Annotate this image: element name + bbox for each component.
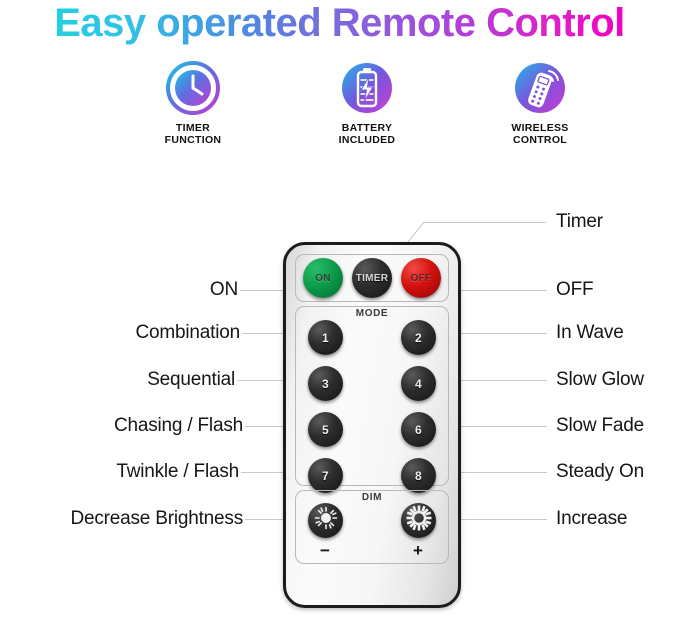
mode-button-label: 2 bbox=[415, 331, 422, 345]
mode-button-7[interactable]: 7 bbox=[308, 458, 343, 493]
mode-button-label: 6 bbox=[415, 423, 422, 437]
mode-button-label: 7 bbox=[322, 469, 329, 483]
callout-dim-minus: Decrease Brightness bbox=[9, 508, 243, 530]
callout-button-6: Slow Fade bbox=[556, 415, 644, 437]
callout-button-8: Steady On bbox=[556, 461, 644, 483]
dim-increase-sign: + bbox=[398, 541, 438, 561]
mode-button-label: 4 bbox=[415, 377, 422, 391]
callout-dim-plus: Increase bbox=[556, 508, 627, 530]
mode-button-label: 1 bbox=[322, 331, 329, 345]
callout-button-5: Chasing / Flash bbox=[43, 415, 243, 437]
mode-button-4[interactable]: 4 bbox=[401, 366, 436, 401]
mode-panel-label: MODE bbox=[286, 308, 458, 319]
mode-button-label: 8 bbox=[415, 469, 422, 483]
timer-button[interactable]: TIMER bbox=[352, 258, 392, 298]
on-button[interactable]: ON bbox=[303, 258, 343, 298]
callout-button-3: Sequential bbox=[35, 369, 235, 391]
mode-button-2[interactable]: 2 bbox=[401, 320, 436, 355]
dim-increase-button[interactable] bbox=[401, 503, 436, 538]
callout-off: OFF bbox=[556, 279, 593, 301]
off-button-label: OFF bbox=[411, 273, 432, 284]
off-button[interactable]: OFF bbox=[401, 258, 441, 298]
callout-button-1: Combination bbox=[40, 322, 240, 344]
mode-button-label: 3 bbox=[322, 377, 329, 391]
dim-panel-label: DIM bbox=[286, 492, 458, 503]
mode-button-1[interactable]: 1 bbox=[308, 320, 343, 355]
on-button-label: ON bbox=[315, 273, 331, 284]
callout-button-2: In Wave bbox=[556, 322, 624, 344]
dim-decrease-sign: − bbox=[305, 541, 345, 561]
mode-button-8[interactable]: 8 bbox=[401, 458, 436, 493]
timer-button-label: TIMER bbox=[356, 273, 389, 284]
mode-button-6[interactable]: 6 bbox=[401, 412, 436, 447]
sun-large-icon bbox=[405, 504, 433, 537]
callout-on: ON bbox=[40, 279, 238, 301]
callout-timer: Timer bbox=[556, 211, 603, 233]
mode-button-3[interactable]: 3 bbox=[308, 366, 343, 401]
sun-small-icon bbox=[313, 505, 339, 536]
callout-button-7: Twinkle / Flash bbox=[39, 461, 239, 483]
callout-button-4: Slow Glow bbox=[556, 369, 644, 391]
mode-button-label: 5 bbox=[322, 423, 329, 437]
mode-button-5[interactable]: 5 bbox=[308, 412, 343, 447]
dim-decrease-button[interactable] bbox=[308, 503, 343, 538]
remote-control-device: ON TIMER OFF MODE 1 2 3 4 5 6 7 8 DIM bbox=[283, 242, 461, 608]
